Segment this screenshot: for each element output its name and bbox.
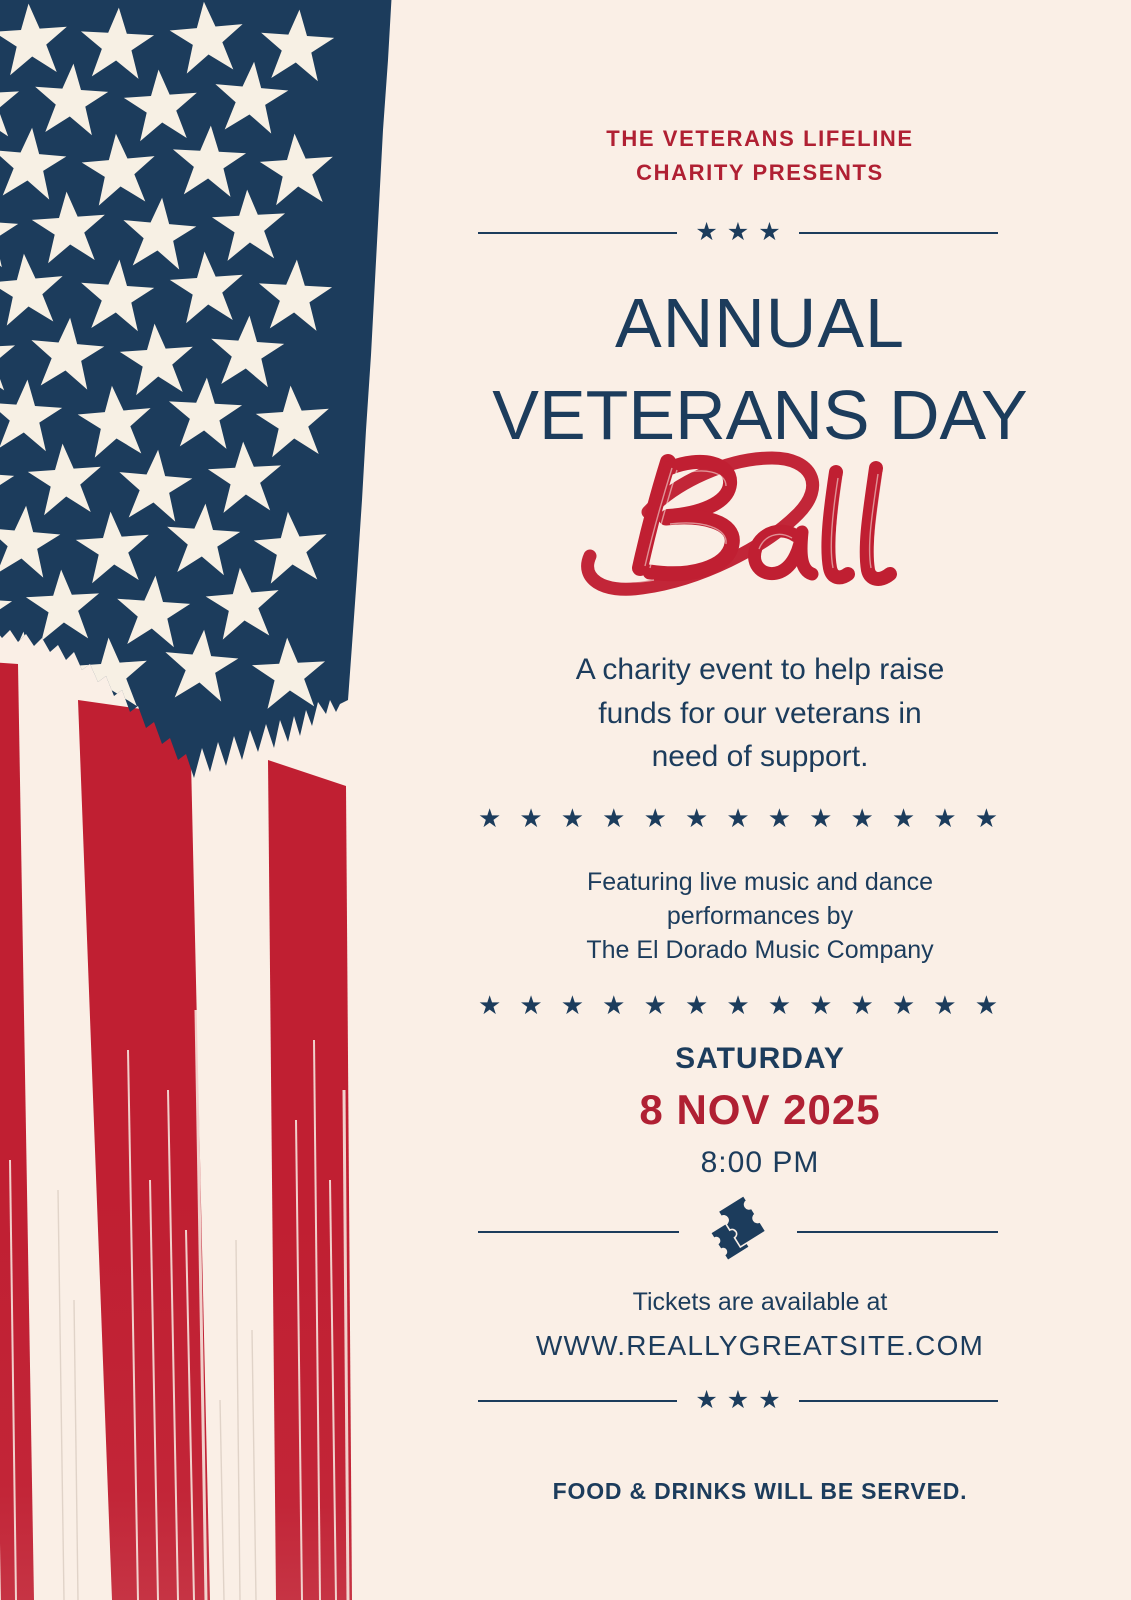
star-icon: ★: [933, 805, 956, 831]
star-icon: ★: [851, 992, 874, 1018]
event-datetime: SATURDAY 8 NOV 2025 8:00 PM: [440, 1042, 1080, 1180]
star-icon: ★: [644, 805, 667, 831]
star-icon: ★: [758, 220, 780, 245]
tickets-note: Tickets are available at: [440, 1288, 1080, 1317]
flag-blue-canton: [0, 0, 410, 780]
description-line-1: A charity event to help raise: [470, 648, 1050, 692]
star-icon: ★: [478, 805, 501, 831]
star-icon: ★: [727, 220, 749, 245]
divider-bottom: ★ ★ ★: [478, 1388, 998, 1413]
description-line-2: funds for our veterans in: [470, 692, 1050, 736]
star-icon: ★: [851, 805, 874, 831]
star-icon: ★: [892, 805, 915, 831]
star-row-divider-1: ★ ★ ★ ★ ★ ★ ★ ★ ★ ★ ★ ★ ★: [478, 805, 998, 831]
title-line-annual: ANNUAL: [440, 288, 1080, 358]
presenter-line-1: THE VETERANS LIFELINE: [440, 122, 1080, 156]
star-icon: ★: [695, 220, 717, 245]
featuring-line-3: The El Dorado Music Company: [460, 934, 1060, 968]
star-icon: ★: [809, 992, 832, 1018]
star-icon: ★: [602, 805, 625, 831]
divider-stars: ★ ★ ★: [695, 1388, 780, 1413]
website-url[interactable]: WWW.REALLYGREATSITE.COM: [440, 1330, 1080, 1362]
divider-stars: ★ ★ ★: [695, 220, 780, 245]
divider-top: ★ ★ ★: [478, 220, 998, 245]
star-icon: ★: [602, 992, 625, 1018]
star-icon: ★: [685, 805, 708, 831]
divider-rule-right: [799, 1400, 998, 1402]
event-description: A charity event to help raise funds for …: [470, 648, 1050, 779]
star-icon: ★: [644, 992, 667, 1018]
divider-rule-left: [478, 232, 677, 234]
presenter-heading: THE VETERANS LIFELINE CHARITY PRESENTS: [440, 122, 1080, 190]
star-icon: ★: [975, 992, 998, 1018]
star-icon: ★: [758, 1388, 780, 1413]
star-icon: ★: [519, 992, 542, 1018]
divider-rule-left: [478, 1400, 677, 1402]
star-icon: ★: [933, 992, 956, 1018]
star-icon: ★: [768, 992, 791, 1018]
divider-rule-right: [797, 1231, 998, 1233]
title-script-ball: [440, 428, 1080, 608]
description-line-3: need of support.: [470, 735, 1050, 779]
title-line-veterans-day: VETERANS DAY: [440, 380, 1080, 450]
event-title: ANNUAL VETERANS DAY: [440, 288, 1080, 598]
featuring-text: Featuring live music and dance performan…: [460, 866, 1060, 967]
star-icon: ★: [975, 805, 998, 831]
star-row-divider-2: ★ ★ ★ ★ ★ ★ ★ ★ ★ ★ ★ ★ ★: [478, 992, 998, 1018]
food-drinks-note: FOOD & DRINKS WILL BE SERVED.: [440, 1478, 1080, 1505]
divider-rule-right: [799, 232, 998, 234]
presenter-line-2: CHARITY PRESENTS: [440, 156, 1080, 190]
star-icon: ★: [695, 1388, 717, 1413]
divider-ticket: [478, 1195, 998, 1269]
star-icon: ★: [726, 992, 749, 1018]
star-icon: ★: [809, 805, 832, 831]
star-icon: ★: [892, 992, 915, 1018]
star-icon: ★: [685, 992, 708, 1018]
featuring-line-1: Featuring live music and dance: [460, 866, 1060, 900]
divider-rule-left: [478, 1231, 679, 1233]
star-icon: ★: [768, 805, 791, 831]
american-flag-artwork: [0, 0, 470, 1600]
event-date: 8 NOV 2025: [440, 1086, 1080, 1134]
star-icon: ★: [561, 805, 584, 831]
featuring-line-2: performances by: [460, 900, 1060, 934]
star-icon: ★: [478, 992, 501, 1018]
star-icon: ★: [519, 805, 542, 831]
star-icon: ★: [726, 805, 749, 831]
poster: THE VETERANS LIFELINE CHARITY PRESENTS ★…: [0, 0, 1131, 1600]
event-day: SATURDAY: [440, 1042, 1080, 1076]
ticket-icon: [701, 1195, 775, 1269]
event-time: 8:00 PM: [440, 1146, 1080, 1180]
star-icon: ★: [561, 992, 584, 1018]
star-icon: ★: [727, 1388, 749, 1413]
poster-content: THE VETERANS LIFELINE CHARITY PRESENTS ★…: [440, 0, 1080, 1600]
